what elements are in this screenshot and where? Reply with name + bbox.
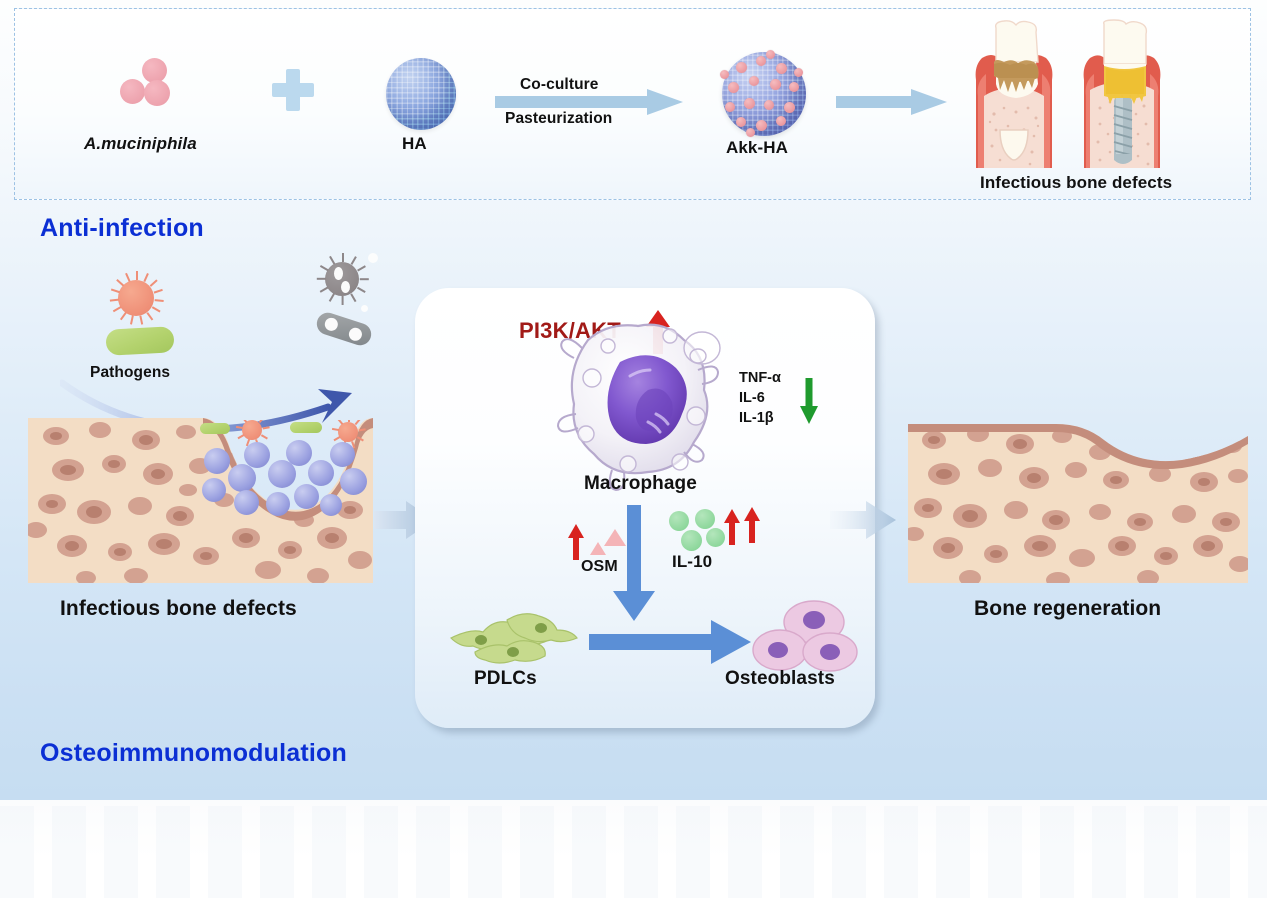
background-ghost-watermark (0, 806, 1267, 898)
a-muciniphila-label: A.muciniphila (84, 134, 197, 154)
osteoimmunomodulation-label: Osteoimmunomodulation (40, 739, 347, 768)
proinflammatory-cytokines-list: TNF-α IL-6 IL-1β (739, 368, 781, 428)
teeth-illustration (966, 18, 1176, 170)
bacteria-dot (144, 80, 170, 106)
cytokine-il-6: IL-6 (739, 388, 781, 408)
figure-canvas: A.muciniphila HA Co-culture Pasteurizati… (0, 0, 1267, 898)
cytokine-tnf-alpha: TNF-α (739, 368, 781, 388)
dental-implant-icon (1074, 18, 1170, 170)
osm-up-arrow-icon (568, 524, 584, 560)
bubble-icon (368, 253, 378, 263)
plus-icon (272, 69, 314, 111)
co-culture-label: Co-culture (520, 76, 599, 94)
il10-up-arrow-icon (744, 507, 760, 543)
transfer-arrow-icon (836, 93, 946, 111)
akk-ha-particles-in-defect (190, 420, 375, 530)
il10-up-arrow-icon (724, 509, 740, 545)
flow-arrow-right-icon (830, 498, 898, 542)
il10-particle-icon (695, 509, 715, 529)
regenerated-bone-illustration (908, 418, 1248, 583)
pdlc-to-osteoblast-arrow-icon (589, 620, 751, 664)
process-arrow-icon (495, 93, 685, 111)
killed-bacteria-icon (325, 262, 359, 296)
bone-regeneration-caption: Bone regeneration (974, 597, 1161, 621)
diseased-tooth-icon (966, 18, 1062, 170)
il10-label: IL-10 (672, 552, 712, 572)
a-muciniphila-icon (120, 58, 180, 110)
il10-particle-icon (706, 528, 725, 547)
cytokine-down-arrow-icon (800, 378, 818, 424)
osm-particle-icon (590, 542, 606, 555)
pasteurization-label: Pasteurization (505, 110, 612, 128)
cytokine-il-1-beta: IL-1β (739, 408, 781, 428)
infectious-bone-defects-top-caption: Infectious bone defects (980, 173, 1172, 193)
osteoblasts-label: Osteoblasts (725, 668, 835, 690)
il10-particle-icon (669, 511, 689, 531)
bacteria-dot (120, 79, 145, 104)
infectious-bone-defects-caption: Infectious bone defects (60, 597, 297, 621)
pathogen-virus-icon (118, 280, 154, 316)
ha-particle-icon (386, 58, 456, 130)
akk-ha-label: Akk-HA (726, 138, 788, 158)
differentiation-down-arrow-icon (613, 505, 655, 623)
akk-ha-particle-icon (722, 52, 806, 136)
ha-label: HA (402, 134, 427, 154)
pdlcs-icon (449, 608, 579, 668)
osteoblasts-icon (752, 600, 860, 672)
pdlcs-label: PDLCs (474, 668, 537, 690)
il10-particle-icon (681, 530, 702, 551)
macrophage-label: Macrophage (584, 473, 697, 495)
anti-infection-label: Anti-infection (40, 214, 204, 243)
macrophage-icon (552, 318, 732, 493)
pathogen-rod-icon (105, 326, 174, 356)
bubble-icon (361, 305, 368, 312)
